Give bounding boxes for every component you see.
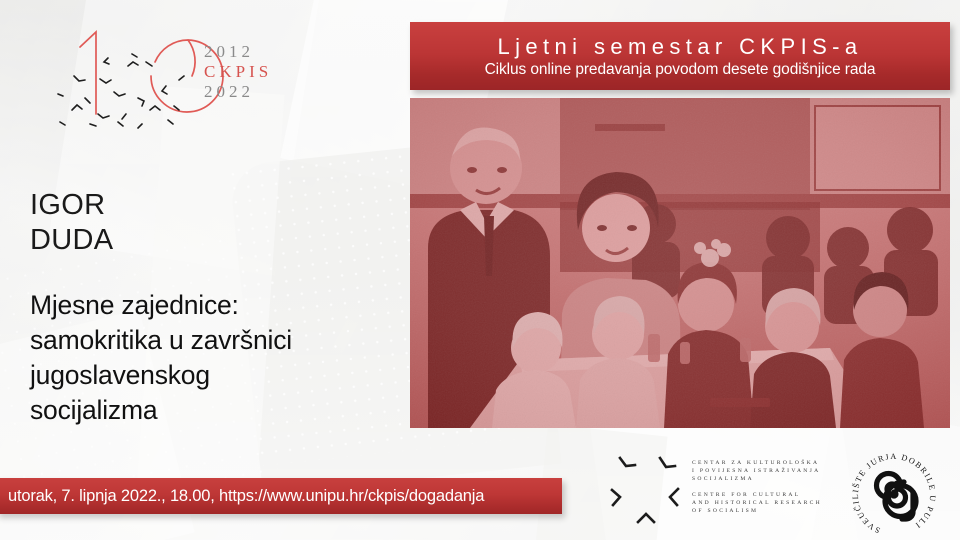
logo-confetti-marks (58, 54, 184, 128)
header-banner: Ljetni semestar CKPIS-a Ciklus online pr… (410, 22, 950, 90)
speaker-last-name: DUDA (30, 223, 113, 258)
poster-canvas: 2012 CKPIS 2022 Ljetni semestar CKPIS-a … (0, 0, 960, 540)
lecture-title-line: Mjesne zajednice: (30, 288, 390, 323)
university-seal-logo: SVEUČILIŠTE JURJA DOBRILE U PULI (848, 450, 940, 538)
lecture-title: Mjesne zajednice: samokritika u završnic… (30, 288, 390, 428)
lecture-title-line: samokritika u završnici (30, 323, 390, 358)
lecture-title-line: jugoslavenskog (30, 358, 390, 393)
centre-name: Centar za kulturološka i povijesna istra… (692, 459, 822, 515)
logo-year-to: 2022 (204, 82, 272, 102)
logo-acronym: CKPIS (204, 62, 272, 82)
logo-year-from: 2012 (204, 42, 272, 62)
decorative-bracket-marks (604, 448, 690, 532)
header-title: Ljetni semestar CKPIS-a (497, 34, 862, 60)
centre-name-hr-line: i povijesna istraživanja (692, 467, 822, 475)
seal-spiral (877, 474, 917, 520)
header-subtitle: Ciklus online predavanja povodom desete … (485, 60, 876, 80)
lecture-title-line: socijalizma (30, 393, 390, 428)
centre-name-en-line: Centre for cultural (692, 491, 822, 499)
centre-name-hr-line: socijalizma (692, 475, 822, 483)
centre-name-en-line: and historical research (692, 499, 822, 507)
speaker-name: IGOR DUDA (30, 188, 113, 258)
centre-name-en-line: of socialism (692, 507, 822, 515)
anniversary-logo: 2012 CKPIS 2022 (38, 14, 338, 129)
event-details-text: utorak, 7. lipnja 2022., 18.00, https://… (8, 487, 484, 506)
centre-name-hr-line: Centar za kulturološka (692, 459, 822, 467)
event-details-banner: utorak, 7. lipnja 2022., 18.00, https://… (0, 478, 562, 514)
logo-year-block: 2012 CKPIS 2022 (204, 42, 272, 102)
event-photograph (410, 98, 950, 428)
speaker-first-name: IGOR (30, 188, 113, 223)
